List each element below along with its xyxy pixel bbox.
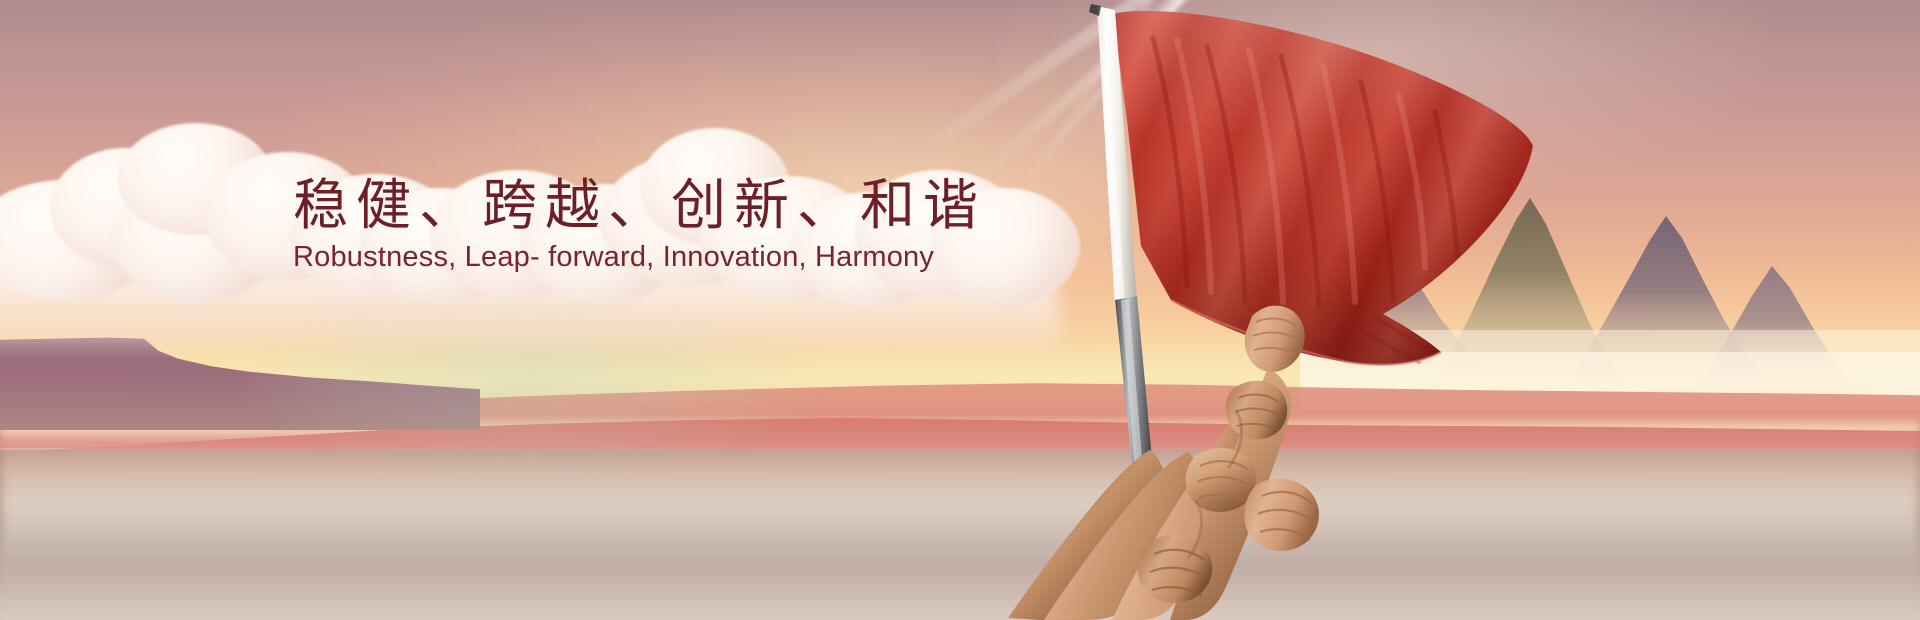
hero-banner: 稳健、跨越、创新、和谐 Robustness, Leap- forward, I… [0,0,1920,620]
headline-block: 稳健、跨越、创新、和谐 Robustness, Leap- forward, I… [293,176,986,275]
ground-mist [0,430,1920,560]
water-sheen [0,542,1920,620]
page-subtitle: Robustness, Leap- forward, Innovation, H… [293,240,986,274]
landscape [0,320,1920,620]
page-title: 稳健、跨越、创新、和谐 [293,176,986,234]
hands-holding-pole [1000,260,1330,620]
